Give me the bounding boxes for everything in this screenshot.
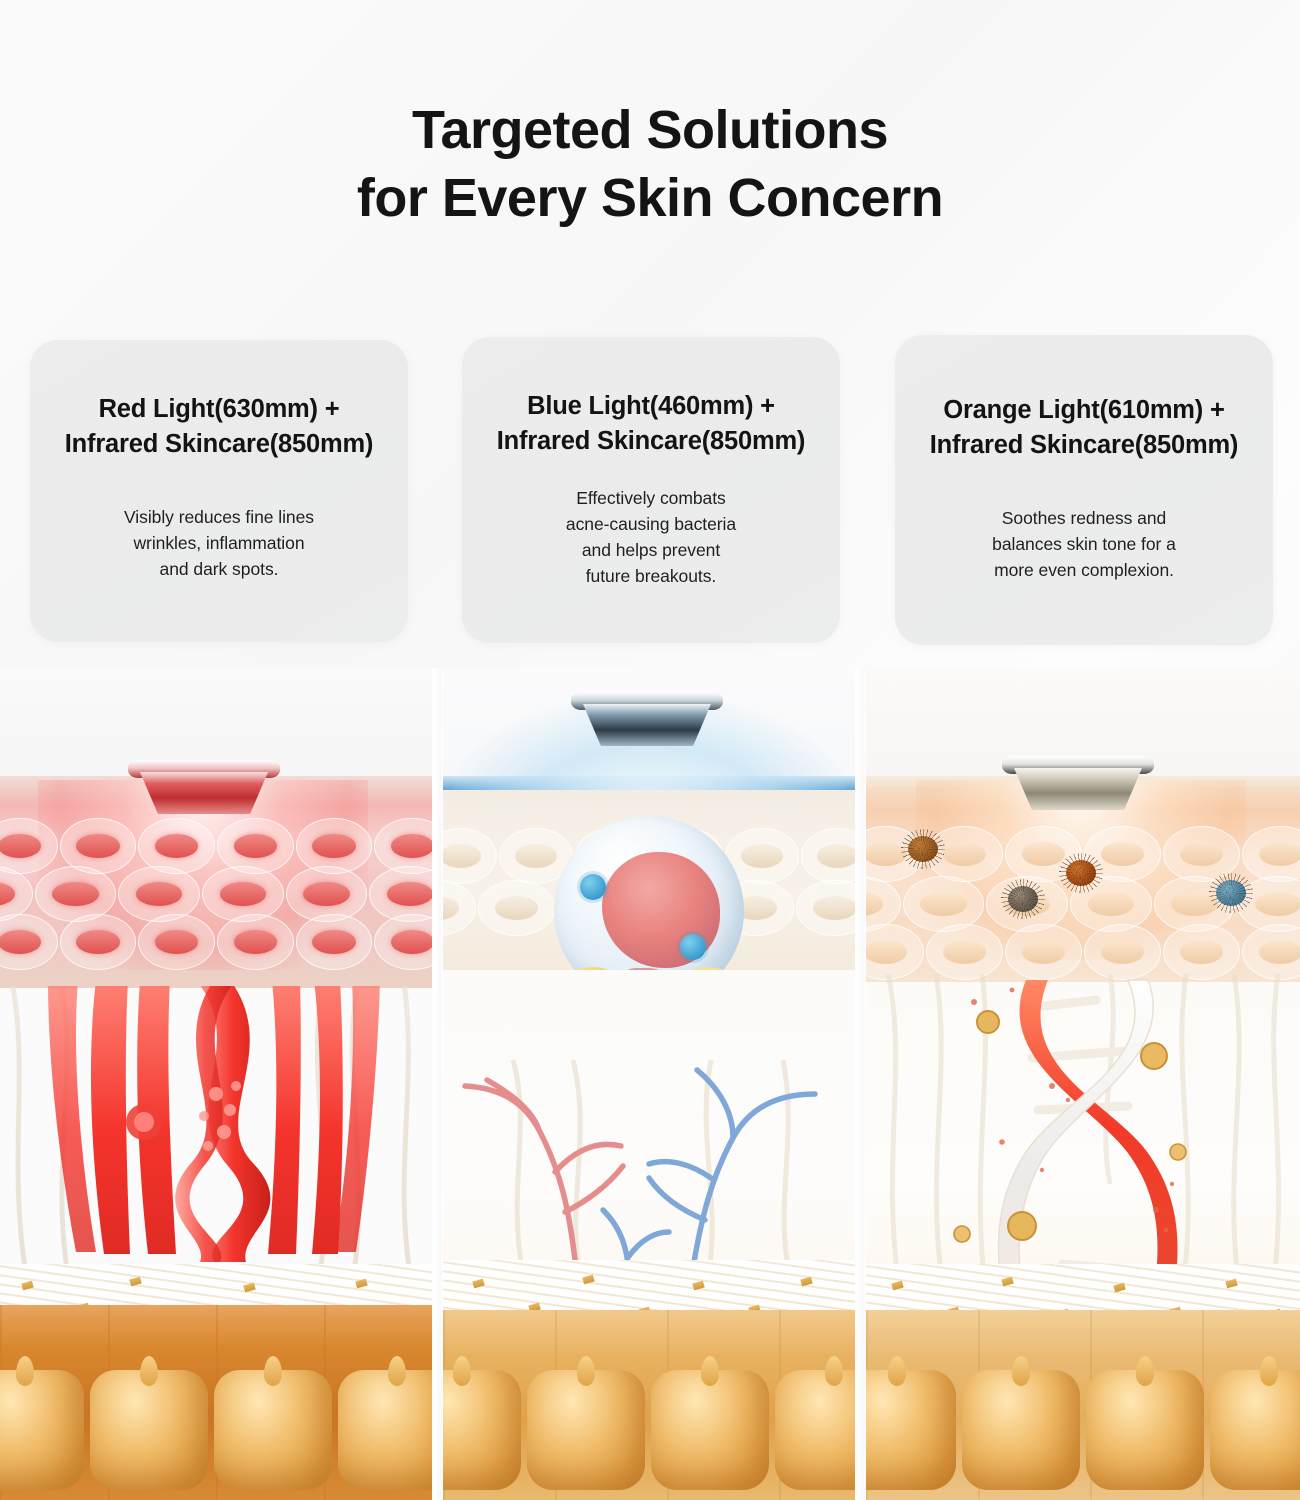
card-blue-light-title-line-2: Infrared Skincare(850mm)	[497, 427, 805, 455]
card-blue-light-desc-line-3: and helps prevent	[582, 540, 720, 560]
skin-cell	[1242, 826, 1300, 882]
card-blue-light-desc-line-2: acne-causing bacteria	[566, 514, 736, 534]
skin-cell	[1242, 924, 1300, 980]
orange-cell-row-3	[866, 924, 1300, 980]
skin-cell	[926, 924, 1003, 980]
blue-device-head-icon	[571, 692, 723, 746]
skin-cell	[217, 914, 294, 970]
skin-cell	[60, 914, 137, 970]
device-body	[140, 772, 268, 814]
gold-device-head-icon	[1002, 756, 1154, 810]
card-blue-light-title: Blue Light(460mm) + Infrared Skincare(85…	[462, 389, 840, 458]
red-fat-cells	[0, 1310, 432, 1500]
skin-cell	[374, 914, 432, 970]
card-red-light-desc-line-2: wrinkles, inflammation	[133, 533, 304, 553]
card-blue-light-desc-line-4: future breakouts.	[586, 566, 716, 586]
card-red-light-title: Red Light(630mm) + Infrared Skincare(850…	[30, 392, 408, 461]
card-red-light-desc-line-1: Visibly reduces fine lines	[124, 507, 314, 527]
red-light-skin-diagram	[0, 668, 432, 1500]
arteriole	[465, 1080, 623, 1260]
card-red-light-title-line-2: Infrared Skincare(850mm)	[65, 430, 373, 458]
melanin-spot	[1066, 860, 1096, 886]
card-blue-light-description: Effectively combats acne-causing bacteri…	[462, 486, 840, 590]
card-orange-light[interactable]: Orange Light(610mm) + Infrared Skincare(…	[895, 335, 1273, 645]
red-device-head-icon	[128, 760, 280, 814]
skin-cell	[1163, 924, 1240, 980]
page-title: Targeted Solutions for Every Skin Concer…	[0, 96, 1300, 232]
skin-cell	[478, 880, 556, 936]
skin-cell	[801, 828, 855, 884]
acne-bacteria-icon	[580, 874, 606, 900]
skin-cell	[138, 914, 215, 970]
skin-cell	[796, 880, 855, 936]
skin-cell	[1005, 924, 1082, 980]
melanin-spot	[908, 836, 938, 862]
card-red-light-description: Visibly reduces fine lines wrinkles, inf…	[30, 505, 408, 583]
skin-diagram-band	[0, 668, 1300, 1500]
skin-cell	[443, 828, 497, 884]
device-body	[583, 704, 711, 746]
card-orange-light-title-line-2: Infrared Skincare(850mm)	[930, 431, 1238, 459]
melanin-spot	[1008, 886, 1038, 912]
blue-light-skin-diagram	[443, 668, 855, 1500]
skin-cell	[296, 914, 373, 970]
card-red-light-title-line-1: Red Light(630mm) +	[99, 395, 340, 423]
melanin-spot	[1216, 880, 1246, 906]
skin-cell	[866, 924, 924, 980]
skin-cell	[443, 880, 476, 936]
orange-fat-cells	[866, 1310, 1300, 1500]
page-title-line-2: for Every Skin Concern	[0, 164, 1300, 232]
card-blue-light[interactable]: Blue Light(460mm) + Infrared Skincare(85…	[462, 337, 840, 643]
skin-cell	[1084, 924, 1161, 980]
orange-light-skin-diagram	[866, 668, 1300, 1500]
card-blue-light-desc-line-1: Effectively combats	[576, 488, 725, 508]
card-orange-light-desc-line-2: balances skin tone for a	[992, 534, 1176, 554]
feature-cards-row: Red Light(630mm) + Infrared Skincare(850…	[0, 337, 1300, 649]
card-orange-light-description: Soothes redness and balances skin tone f…	[895, 506, 1273, 584]
card-orange-light-title-line-1: Orange Light(610mm) +	[943, 396, 1224, 424]
red-cell-row-3	[0, 914, 432, 970]
device-body	[1014, 768, 1142, 810]
skin-cell	[0, 914, 58, 970]
card-red-light[interactable]: Red Light(630mm) + Infrared Skincare(850…	[30, 340, 408, 642]
page-title-line-1: Targeted Solutions	[412, 100, 888, 160]
panel-divider-2	[855, 668, 866, 1500]
panel-divider-1	[432, 668, 443, 1500]
acne-bacteria-icon	[680, 934, 706, 960]
card-orange-light-desc-line-3: more even complexion.	[994, 560, 1174, 580]
card-red-light-desc-line-3: and dark spots.	[160, 559, 279, 579]
blue-fat-cells	[443, 1310, 855, 1500]
card-blue-light-title-line-1: Blue Light(460mm) +	[527, 392, 775, 420]
card-orange-light-desc-line-1: Soothes redness and	[1002, 508, 1166, 528]
card-orange-light-title: Orange Light(610mm) + Infrared Skincare(…	[895, 393, 1273, 462]
